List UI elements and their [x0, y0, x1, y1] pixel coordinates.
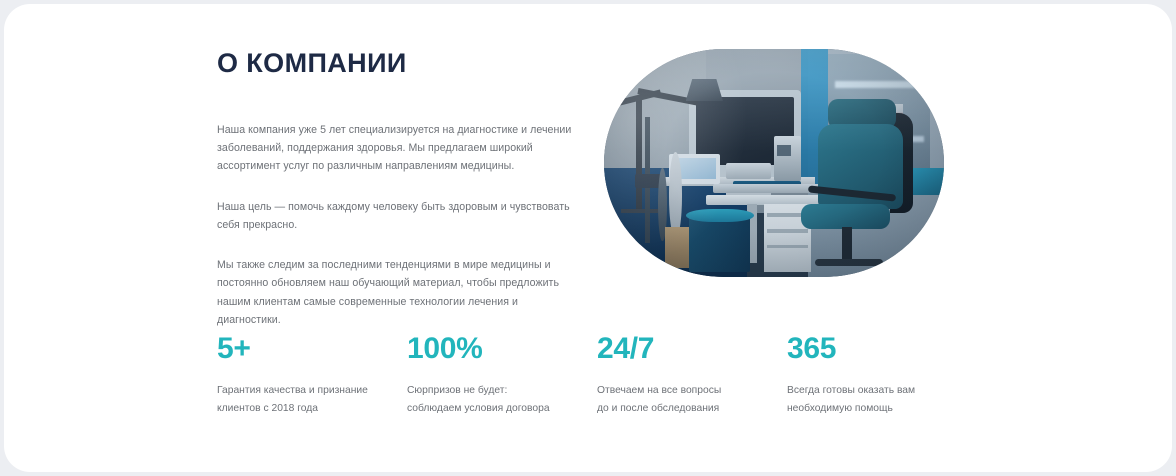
stat-item: 365 Всегда готовы оказать вам необходиму…	[787, 334, 977, 418]
photo-scene	[604, 49, 944, 277]
text-column: О КОМПАНИИ Наша компания уже 5 лет специ…	[217, 48, 577, 329]
about-text-block: Наша компания уже 5 лет специализируется…	[217, 121, 577, 329]
about-company-section: О КОМПАНИИ Наша компания уже 5 лет специ…	[4, 4, 1172, 472]
page-title: О КОМПАНИИ	[217, 48, 577, 79]
stat-caption: Гарантия качества и признание клиентов с…	[217, 382, 407, 418]
statistics-row: 5+ Гарантия качества и признание клиенто…	[217, 334, 977, 418]
stat-value: 24/7	[597, 334, 787, 364]
medical-office-photo	[604, 49, 944, 277]
about-paragraph-2: Наша цель — помочь каждому человеку быть…	[217, 198, 577, 234]
stat-caption: Отвечаем на все вопросы до и после обсле…	[597, 382, 787, 418]
stat-caption: Сюрпризов не будет: соблюдаем условия до…	[407, 382, 597, 418]
about-paragraph-3: Мы также следим за последними тенденциям…	[217, 256, 577, 329]
about-paragraph-1: Наша компания уже 5 лет специализируется…	[217, 121, 577, 176]
stat-value: 100%	[407, 334, 597, 364]
photo-vignette	[604, 49, 944, 277]
stat-value: 5+	[217, 334, 407, 364]
stat-item: 24/7 Отвечаем на все вопросы до и после …	[597, 334, 787, 418]
stat-value: 365	[787, 334, 977, 364]
stat-item: 100% Сюрпризов не будет: соблюдаем услов…	[407, 334, 597, 418]
stat-caption: Всегда готовы оказать вам необходимую по…	[787, 382, 977, 418]
stat-item: 5+ Гарантия качества и признание клиенто…	[217, 334, 407, 418]
